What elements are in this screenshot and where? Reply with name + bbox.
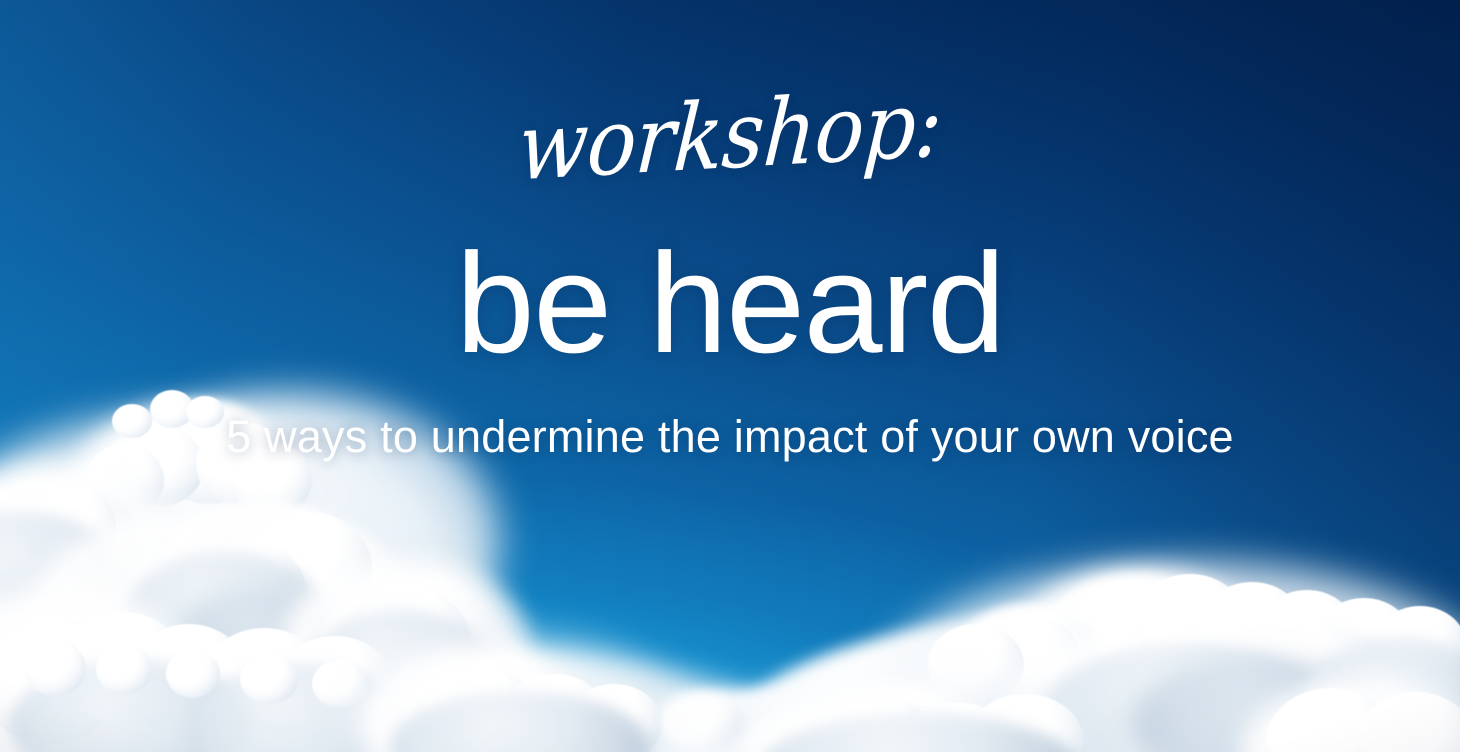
page-title: be heard	[0, 232, 1460, 377]
poster-canvas: workshop: be heard 5 ways to undermine t…	[0, 0, 1460, 752]
eyebrow-text: workshop:	[515, 79, 944, 195]
page-subtitle: 5 ways to undermine the impact of your o…	[0, 412, 1460, 462]
